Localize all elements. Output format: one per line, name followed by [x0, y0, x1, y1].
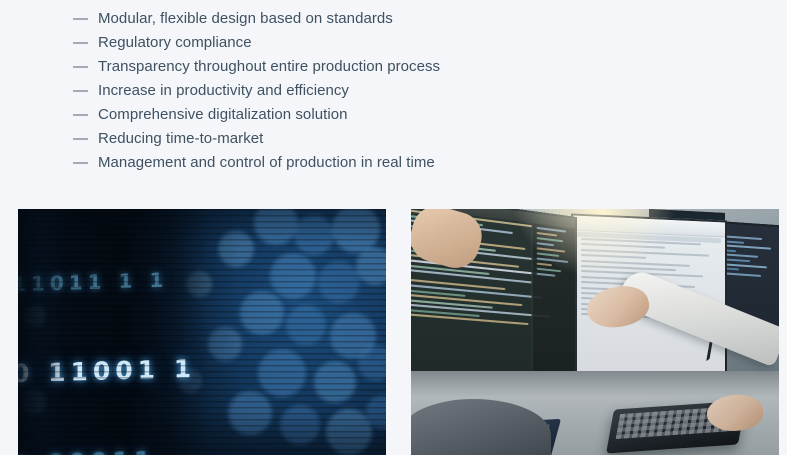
- list-dash-marker: —: [73, 103, 98, 127]
- list-item: — Increase in productivity and efficienc…: [40, 79, 787, 103]
- developers-photo: [411, 209, 779, 455]
- list-item: — Modular, flexible design based on stan…: [40, 7, 787, 31]
- media-row: 11011 1 1 0 11001 1 0 00011 0 110010 100…: [0, 209, 787, 455]
- list-item-label: Modular, flexible design based on standa…: [98, 7, 393, 31]
- desk-shadow: [411, 371, 779, 397]
- list-item: — Reducing time-to-market: [40, 127, 787, 151]
- list-item: — Transparency throughout entire product…: [40, 55, 787, 79]
- list-dash-marker: —: [73, 55, 98, 79]
- list-item-label: Comprehensive digitalization solution: [98, 103, 348, 127]
- scanlines-overlay: [18, 209, 386, 455]
- list-item: — Management and control of production i…: [40, 151, 787, 175]
- list-item-label: Reducing time-to-market: [98, 127, 263, 151]
- list-item: — Comprehensive digitalization solution: [40, 103, 787, 127]
- list-item-label: Transparency throughout entire productio…: [98, 55, 440, 79]
- office-scene: [411, 209, 779, 455]
- list-item: — Regulatory compliance: [40, 31, 787, 55]
- list-item-label: Increase in productivity and efficiency: [98, 79, 349, 103]
- editor-sidebar: [532, 223, 575, 379]
- list-dash-marker: —: [73, 79, 98, 103]
- binary-scene: 11011 1 1 0 11001 1 0 00011 0 110010 100…: [18, 209, 386, 455]
- list-item-label: Regulatory compliance: [98, 31, 252, 55]
- binary-data-photo: 11011 1 1 0 11001 1 0 00011 0 110010 100…: [18, 209, 386, 455]
- list-item-label: Management and control of production in …: [98, 151, 435, 175]
- list-dash-marker: —: [73, 127, 98, 151]
- list-dash-marker: —: [73, 31, 98, 55]
- benefits-list: — Modular, flexible design based on stan…: [0, 0, 787, 175]
- list-dash-marker: —: [73, 151, 98, 175]
- list-dash-marker: —: [73, 7, 98, 31]
